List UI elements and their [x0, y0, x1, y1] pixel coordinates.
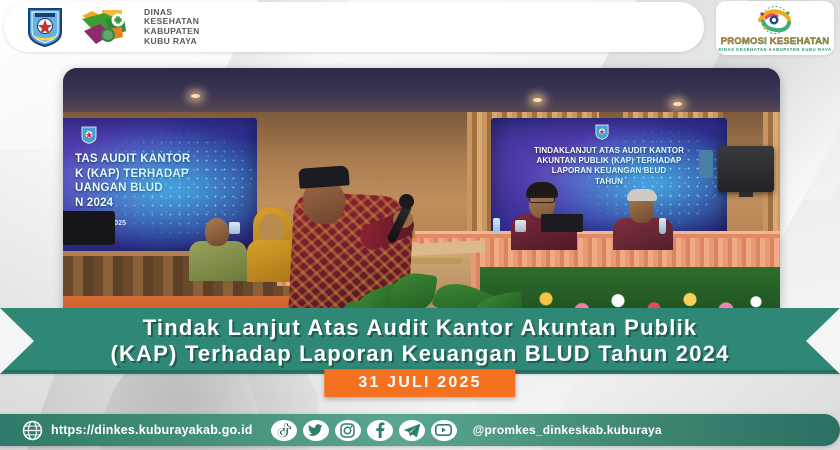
instagram-icon[interactable] — [335, 420, 361, 441]
social-icons-row — [271, 420, 457, 441]
globe-icon — [22, 420, 43, 441]
promkes-subtitle: DINAS KESEHATAN KABUPATEN KUBU RAYA — [719, 47, 832, 52]
promosi-kesehatan-swirl-icon — [749, 5, 801, 35]
header-left-badge: DINAS KESEHATAN KABUPATEN KUBU RAYA — [4, 2, 704, 52]
event-date-badge: 31 JULI 2025 — [324, 369, 515, 397]
youtube-icon[interactable] — [431, 420, 457, 441]
banner-title: Tindak Lanjut Atas Audit Kantor Akuntan … — [0, 308, 840, 374]
dinas-kesehatan-logo-icon — [78, 7, 130, 47]
social-handle[interactable]: @promkes_dinkeskab.kuburaya — [473, 423, 662, 437]
website-url[interactable]: https://dinkes.kuburayakab.go.id — [51, 423, 253, 437]
promkes-title: PROMOSI KESEHATAN — [721, 36, 830, 47]
telegram-icon[interactable] — [399, 420, 425, 441]
screen-left-text: TAS AUDIT KANTOR K (KAP) TERHADAP UANGAN… — [75, 152, 190, 211]
screen-right-text: TINDAKLANJUT ATAS AUDIT KANTOR AKUNTAN P… — [501, 146, 717, 187]
screen-crest-icon — [81, 126, 97, 144]
screen-crest-icon-right — [595, 124, 609, 140]
facebook-icon[interactable] — [367, 420, 393, 441]
tiktok-icon[interactable] — [271, 420, 297, 441]
header-right-badge: PROMOSI KESEHATAN DINAS KESEHATAN KABUPA… — [716, 1, 834, 55]
dinas-kesehatan-label: DINAS KESEHATAN KABUPATEN KUBU RAYA — [144, 8, 200, 46]
twitter-icon[interactable] — [303, 420, 329, 441]
event-photo: TAS AUDIT KANTOR K (KAP) TERHADAP UANGAN… — [63, 68, 780, 323]
footer-bar: https://dinkes.kuburayakab.go.id — [0, 414, 840, 446]
kubu-raya-regency-crest-icon — [26, 6, 64, 48]
